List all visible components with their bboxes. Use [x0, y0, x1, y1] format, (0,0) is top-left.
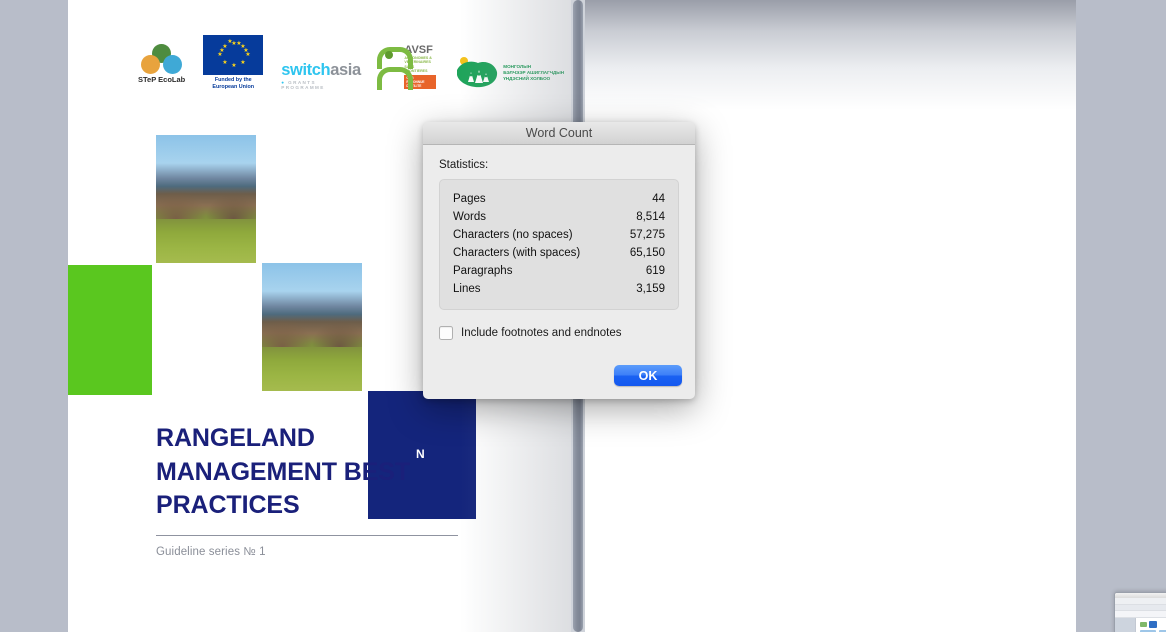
mongolian-herders-logo: МОНГОЛЫН БЭЛЧЭЭР АШИГЛАГЧДЫН ҮНДЭСНИЙ ХО…: [455, 56, 564, 90]
dialog-body: Statistics: Pages 44 Words 8,514 Charact…: [423, 145, 695, 340]
photo-steppe-right: [262, 263, 362, 391]
stat-value-pages: 44: [652, 190, 665, 208]
ok-button[interactable]: OK: [614, 365, 682, 386]
avsf-figure-icon: [377, 47, 402, 87]
dialog-titlebar[interactable]: Word Count: [423, 122, 695, 145]
title-divider: [156, 535, 458, 536]
stat-value-lines: 3,159: [636, 280, 665, 298]
include-footnotes-row[interactable]: Include footnotes and endnotes: [439, 326, 679, 340]
include-footnotes-checkbox[interactable]: [439, 326, 453, 340]
dialog-title: Word Count: [526, 126, 592, 140]
stat-label-characters-with-spaces: Characters (with spaces): [453, 244, 580, 262]
european-union-logo: ★ ★ ★ ★ ★ ★ ★ ★ ★ ★ ★ ★: [203, 35, 263, 90]
stat-label-pages: Pages: [453, 190, 486, 208]
stat-row-words: Words 8,514: [453, 208, 665, 226]
switch-asia-word1: switch: [281, 61, 330, 79]
avsf-logo: AVSF AGRONOMES & VETERINAIRES SANS FRONT…: [377, 44, 437, 90]
include-footnotes-label: Include footnotes and endnotes: [461, 327, 622, 339]
cover-green-block: [68, 265, 152, 395]
stat-row-characters-with-spaces: Characters (with spaces) 65,150: [453, 244, 665, 262]
screen: STeP EcoLab ★ ★ ★ ★ ★ ★ ★ ★ ★: [0, 0, 1166, 632]
preview-content: [1136, 618, 1166, 632]
dialog-footer: OK: [614, 365, 682, 386]
switch-asia-tagline: GRANTS PROGRAMME: [281, 80, 324, 90]
stat-value-paragraphs: 619: [646, 262, 665, 280]
stat-label-characters-no-spaces: Characters (no spaces): [453, 226, 573, 244]
statistics-label: Statistics:: [439, 159, 679, 171]
preview-ribbon: [1115, 611, 1166, 618]
stat-row-paragraphs: Paragraphs 619: [453, 262, 665, 280]
preview-toolbar: [1115, 598, 1166, 605]
stat-label-words: Words: [453, 208, 486, 226]
stat-row-pages: Pages 44: [453, 190, 665, 208]
word-count-dialog: Word Count Statistics: Pages 44 Words 8,…: [423, 122, 695, 399]
page-title: RANGELAND MANAGEMENT BEST PRACTICES: [156, 422, 458, 523]
preview-body: [1115, 618, 1166, 632]
stat-row-characters-no-spaces: Characters (no spaces) 57,275: [453, 226, 665, 244]
eu-flag-icon: ★ ★ ★ ★ ★ ★ ★ ★ ★ ★ ★ ★: [203, 35, 263, 75]
page-top-shadow: [585, 0, 1076, 110]
minimized-window-preview[interactable]: [1114, 592, 1166, 632]
stat-value-characters-with-spaces: 65,150: [630, 244, 665, 262]
stat-label-paragraphs: Paragraphs: [453, 262, 512, 280]
eu-caption-line2: European Union: [203, 84, 263, 90]
photo-steppe-left: [156, 135, 256, 263]
switch-asia-word2: asia: [330, 61, 361, 79]
statistics-box: Pages 44 Words 8,514 Characters (no spac…: [439, 179, 679, 310]
preview-sidebar: [1115, 618, 1136, 632]
cover-title-block: RANGELAND MANAGEMENT BEST PRACTICES Guid…: [156, 422, 458, 558]
stat-value-words: 8,514: [636, 208, 665, 226]
stat-label-lines: Lines: [453, 280, 481, 298]
cover-subtitle: Guideline series № 1: [156, 546, 458, 558]
mongolian-herders-text-3: ҮНДЭСНИЙ ХОЛБОО: [503, 76, 564, 82]
switch-asia-logo: switchasia ● GRANTS PROGRAMME: [281, 62, 359, 90]
stat-row-lines: Lines 3,159: [453, 280, 665, 298]
mongolian-herders-icon: [455, 56, 499, 90]
logo-row: STeP EcoLab ★ ★ ★ ★ ★ ★ ★ ★ ★: [138, 40, 538, 90]
stat-value-characters-no-spaces: 57,275: [630, 226, 665, 244]
